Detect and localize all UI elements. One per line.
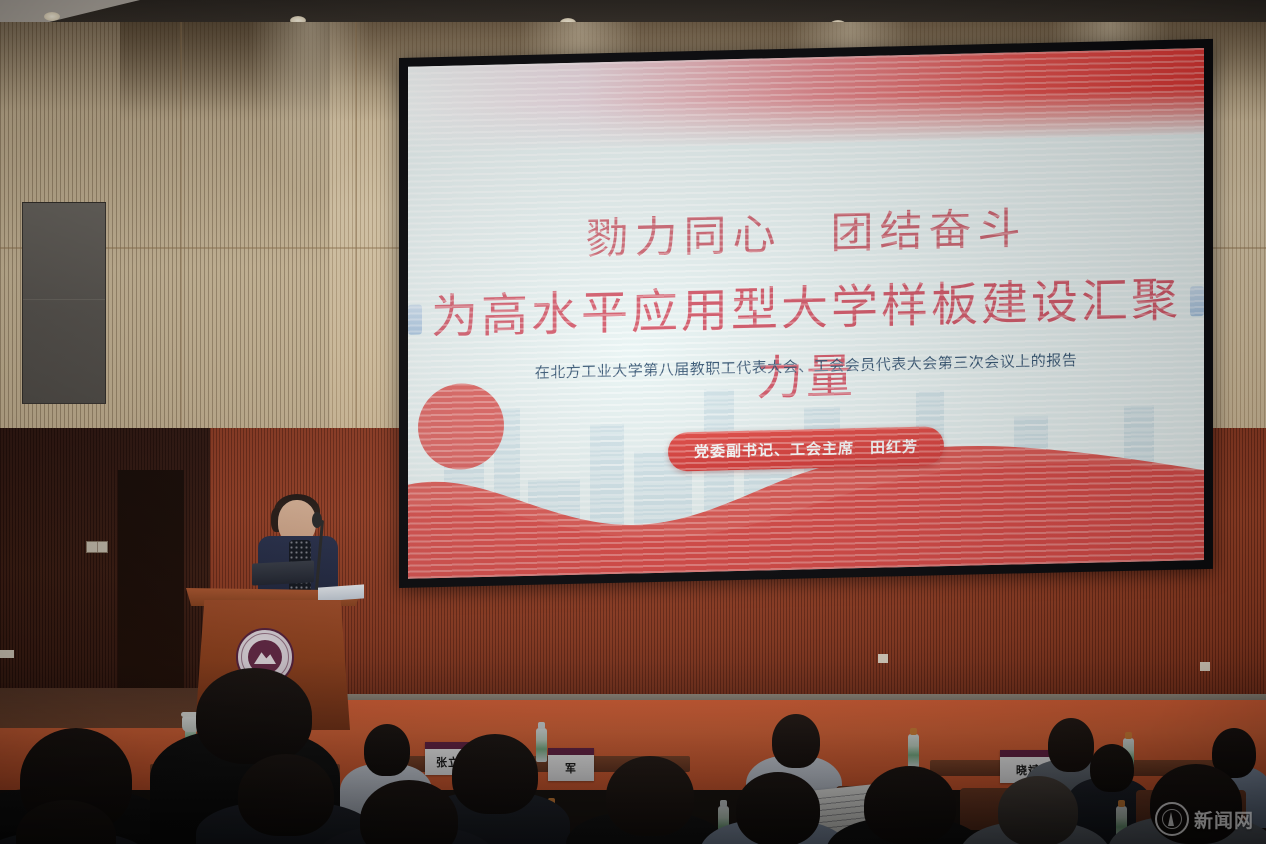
audience-head (452, 734, 538, 814)
slide-text-block: 勠力同心 团结奋斗 为高水平应用型大学样板建设汇聚力量 在北方工业大学第八届教职… (408, 48, 1204, 579)
water-bottle (908, 734, 919, 768)
water-bottle (536, 728, 547, 762)
watermark: 新闻网 (1155, 802, 1254, 836)
audience-head (1048, 718, 1094, 772)
slide-title-line1: 勠力同心 团结奋斗 (408, 190, 1204, 271)
slide-speaker-badge: 党委副书记、工会主席 田红芳 (668, 426, 944, 472)
slide-title-line2: 为高水平应用型大学样板建设汇聚力量 (408, 260, 1204, 417)
light-switch[interactable] (86, 541, 108, 553)
audience-head (772, 714, 820, 768)
news-site-logo-icon (1155, 802, 1189, 836)
conference-hall-photo: 勠力同心 团结奋斗 为高水平应用型大学样板建设汇聚力量 在北方工业大学第八届教职… (0, 0, 1266, 844)
audience-head (364, 724, 410, 776)
audience-head (736, 772, 820, 844)
screen-display: 勠力同心 团结奋斗 为高水平应用型大学样板建设汇聚力量 在北方工业大学第八届教职… (408, 48, 1204, 579)
audience-head (606, 756, 694, 836)
wall-seam (180, 22, 182, 432)
audience-head (864, 766, 956, 844)
acoustic-panel (22, 202, 106, 404)
audience-head (196, 668, 312, 764)
downlight (44, 12, 60, 21)
name-card: 军 (548, 748, 594, 781)
microphone-icon (312, 512, 322, 528)
wall-seam (355, 22, 357, 432)
audience-head (998, 776, 1078, 844)
led-screen: 勠力同心 团结奋斗 为高水平应用型大学样板建设汇聚力量 在北方工业大学第八届教职… (399, 39, 1213, 588)
laptop (252, 560, 314, 585)
audience-area: 张立峰 军 晓斌 (0, 660, 1266, 844)
audience-head (238, 754, 334, 836)
name-card-label: 军 (565, 760, 577, 776)
wall-plate (0, 650, 14, 658)
audience-head (1090, 744, 1134, 792)
watermark-label: 新闻网 (1194, 806, 1254, 833)
